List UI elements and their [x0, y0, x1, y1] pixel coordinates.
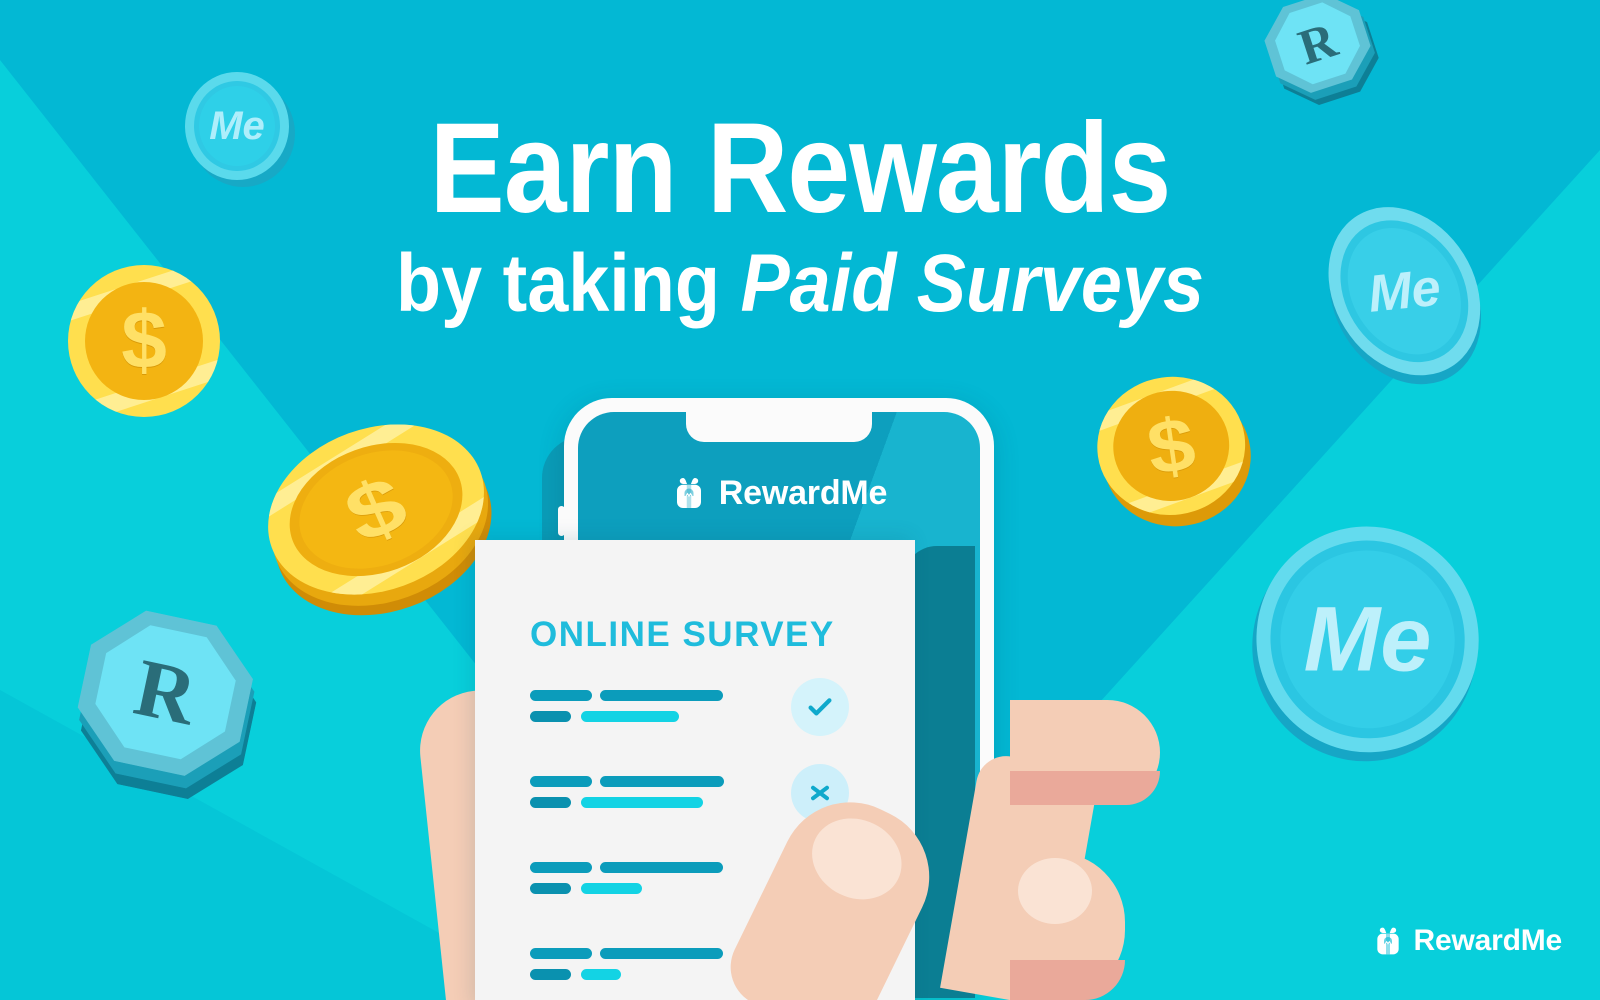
app-header: RewardMe: [578, 458, 980, 528]
app-logo-text: RewardMe: [719, 474, 887, 513]
gift-icon: [671, 475, 707, 511]
coin-r-bottom-left: R: [54, 596, 289, 823]
placeholder-bar: [600, 776, 724, 787]
cross-icon: [806, 779, 834, 807]
placeholder-bar: [530, 797, 571, 808]
placeholder-bar: [530, 969, 571, 980]
placeholder-bar: [581, 883, 642, 894]
placeholder-bar: [530, 883, 571, 894]
brand-footer-logo: RewardMe: [1372, 924, 1562, 958]
placeholder-bar: [530, 776, 592, 787]
check-icon: [805, 692, 835, 722]
coin-dollar-right: $: [1088, 366, 1267, 537]
placeholder-bar: [600, 690, 723, 701]
promo-banner: Earn Rewards by taking Paid Surveys Me $…: [0, 0, 1600, 1000]
coin-glyph-dollar: $: [85, 282, 203, 400]
coin-me-top-left: Me: [185, 72, 295, 187]
hand-finger-upper: [1010, 700, 1160, 805]
placeholder-bar: [581, 797, 703, 808]
gift-icon: [1372, 925, 1404, 957]
thumb-nail: [798, 804, 915, 914]
placeholder-bar: [600, 862, 723, 873]
coin-dollar-left: $: [68, 265, 228, 425]
coin-glyph-me: Me: [199, 86, 275, 166]
placeholder-bar: [530, 862, 592, 873]
placeholder-bar: [530, 948, 592, 959]
placeholder-bar: [600, 948, 723, 959]
placeholder-bar: [581, 969, 621, 980]
survey-card-title: ONLINE SURVEY: [530, 615, 835, 655]
placeholder-bar: [581, 711, 679, 722]
phone-mute-switch[interactable]: [558, 506, 565, 536]
brand-footer-text: RewardMe: [1414, 924, 1562, 958]
placeholder-bar: [530, 711, 571, 722]
placeholder-bar: [530, 690, 592, 701]
survey-answer-button-checked[interactable]: [791, 678, 849, 736]
phone-notch: [686, 412, 872, 442]
